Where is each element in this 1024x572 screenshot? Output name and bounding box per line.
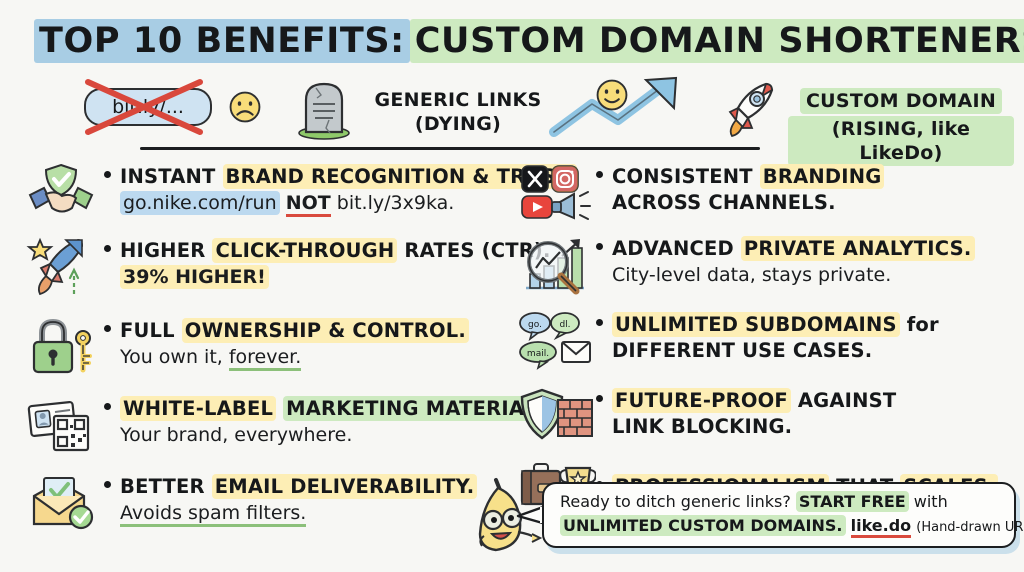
- benefit-8-sub: DIFFERENT USE CASES.: [612, 338, 1024, 364]
- benefit-item-7: ADVANCED PRIVATE ANALYTICS. City-level d…: [518, 234, 1024, 310]
- custom-domain-label: CUSTOM DOMAIN (RISING, like LikeDo): [788, 88, 1014, 166]
- benefit-7-sub: City-level data, stays private.: [612, 262, 1024, 289]
- cta-line1-post: with: [909, 492, 948, 511]
- benefit-7-highlight: PRIVATE ANALYTICS.: [741, 236, 975, 261]
- benefit-8-highlight: UNLIMITED SUBDOMAINS: [612, 312, 900, 337]
- header-comparison-row: bit.ly/... GENERIC LINKS (DYING): [0, 74, 1024, 142]
- bullet: [596, 319, 603, 326]
- header-divider: [140, 147, 760, 150]
- benefit-9-post: AGAINST: [791, 389, 897, 412]
- cta-section: Ready to ditch generic links? START FREE…: [470, 480, 1018, 558]
- benefit-5-sub: Avoids spam filters.: [120, 502, 306, 527]
- bullet: [596, 395, 603, 402]
- bullet: [104, 403, 111, 410]
- bullet: [596, 243, 603, 250]
- benefit-9-sub: LINK BLOCKING.: [612, 414, 1024, 440]
- benefit-2-stat: 39% HIGHER!: [120, 265, 269, 289]
- red-x-cross-icon: [76, 76, 216, 136]
- tombstone-icon: [296, 78, 352, 140]
- benefit-5-pre: BETTER: [120, 475, 212, 498]
- benefit-1-bad-url: bit.ly/3x9ka.: [337, 192, 455, 214]
- benefit-3-sub-b: forever.: [229, 346, 301, 371]
- bullet: [104, 325, 111, 332]
- smiley-face-icon: [595, 78, 629, 112]
- generic-links-line2: (DYING): [358, 112, 558, 136]
- benefit-item-6: CONSISTENT BRANDING ACROSS CHANNELS.: [518, 162, 1024, 234]
- benefit-6-pre: CONSISTENT: [612, 165, 760, 188]
- benefit-9-highlight: FUTURE-PROOF: [612, 388, 791, 413]
- benefit-1-pre: INSTANT: [120, 165, 223, 188]
- benefit-item-2: HIGHER CLICK-THROUGH RATES (CTR). 39% HI…: [26, 236, 526, 316]
- benefits-left-column: INSTANT BRAND RECOGNITION & TRUST. go.ni…: [26, 162, 526, 542]
- benefit-2-highlight: CLICK-THROUGH: [212, 238, 397, 263]
- handshake-shield-icon: [26, 162, 104, 226]
- shield-firewall-icon: [518, 386, 596, 450]
- id-card-qr-icon: [26, 394, 104, 458]
- cta-speech-bubble[interactable]: Ready to ditch generic links? START FREE…: [542, 482, 1016, 548]
- benefit-item-1: INSTANT BRAND RECOGNITION & TRUST. go.ni…: [26, 162, 526, 236]
- rocket-star-icon: [26, 236, 104, 300]
- benefit-item-9: FUTURE-PROOF AGAINST LINK BLOCKING.: [518, 386, 1024, 456]
- benefit-7-pre: ADVANCED: [612, 237, 741, 260]
- benefit-3-sub-a: You own it,: [120, 346, 229, 368]
- benefit-2-pre: HIGHER: [120, 239, 212, 262]
- benefit-4-sub: Your brand, everywhere.: [120, 422, 562, 449]
- lock-key-icon: [26, 316, 104, 380]
- subdomain-bubbles-icon: go. dl. mail.: [518, 310, 596, 374]
- bullet: [104, 245, 111, 252]
- sad-face-icon: [228, 90, 262, 124]
- cta-line1-pre: Ready to ditch generic links?: [560, 492, 796, 511]
- benefit-3-highlight: OWNERSHIP & CONTROL.: [182, 318, 469, 343]
- analytics-magnifier-icon: [518, 234, 596, 298]
- svg-text:mail.: mail.: [527, 349, 549, 359]
- bullet: [596, 171, 603, 178]
- cta-url-note: (Hand-drawn URL): [916, 520, 1024, 535]
- title-part-blue: TOP 10 BENEFITS:: [34, 19, 410, 63]
- svg-text:dl.: dl.: [559, 320, 570, 330]
- cta-start-free[interactable]: START FREE: [796, 491, 909, 512]
- benefit-1-not: NOT: [286, 192, 331, 217]
- benefit-6-highlight: BRANDING: [760, 164, 885, 189]
- benefit-8-post: for: [900, 313, 939, 336]
- benefit-item-8: go. dl. mail. UNLIMITED SUBDOMAINS for D…: [518, 310, 1024, 386]
- infographic-page: TOP 10 BENEFITS:CUSTOM DOMAIN SHORTENERS…: [0, 0, 1024, 572]
- benefit-3-pre: FULL: [120, 319, 182, 342]
- benefit-4-highlight-a: WHITE-LABEL: [120, 396, 276, 421]
- bullet: [104, 171, 111, 178]
- benefit-5-highlight: EMAIL DELIVERABILITY.: [212, 474, 478, 499]
- benefit-1-example-url: go.nike.com/run: [120, 191, 280, 215]
- benefits-right-column: CONSISTENT BRANDING ACROSS CHANNELS.: [518, 162, 1024, 516]
- rocket-icon: [722, 78, 782, 140]
- cta-unlimited-domains: UNLIMITED CUSTOM DOMAINS.: [560, 515, 846, 536]
- social-media-megaphone-icon: [518, 162, 596, 226]
- generic-links-label: GENERIC LINKS (DYING): [358, 88, 558, 136]
- cta-url-link[interactable]: like.do: [851, 516, 912, 538]
- rising-arrow-icon: [548, 76, 714, 140]
- benefit-6-sub: ACROSS CHANNELS.: [612, 190, 1024, 216]
- title-part-green: CUSTOM DOMAIN SHORTENERS 2025: [410, 19, 1024, 63]
- svg-text:go.: go.: [528, 320, 542, 330]
- benefit-item-4: WHITE-LABEL MARKETING MATERIALS. Your br…: [26, 394, 526, 472]
- page-title: TOP 10 BENEFITS:CUSTOM DOMAIN SHORTENERS…: [34, 18, 994, 64]
- bullet: [104, 481, 111, 488]
- benefit-item-3: FULL OWNERSHIP & CONTROL. You own it, fo…: [26, 316, 526, 394]
- benefit-item-5: BETTER EMAIL DELIVERABILITY. Avoids spam…: [26, 472, 526, 542]
- email-check-icon: [26, 472, 104, 536]
- generic-links-line1: GENERIC LINKS: [358, 88, 558, 112]
- custom-domain-line1: CUSTOM DOMAIN: [800, 88, 1002, 114]
- custom-domain-line2: (RISING, like LikeDo): [788, 116, 1014, 166]
